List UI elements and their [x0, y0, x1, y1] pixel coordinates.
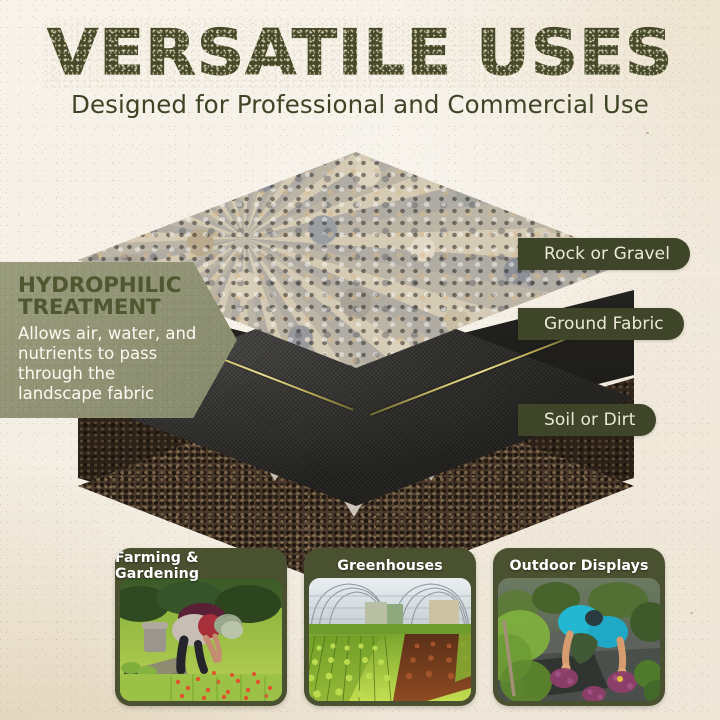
use-case-cards: Farming & Gardening — [0, 548, 720, 714]
card-farming-and-gardening[interactable]: Farming & Gardening — [115, 548, 287, 706]
card-label: Outdoor Displays — [493, 554, 665, 578]
card-label: Greenhouses — [304, 554, 476, 578]
infographic-canvas: VERSATILE USES Designed for Professional… — [0, 0, 720, 720]
card-outdoor-displays[interactable]: Outdoor Displays — [493, 548, 665, 706]
layer-label-text: Soil or Dirt — [544, 410, 636, 430]
callout-title: HYDROPHILIC TREATMENT — [18, 275, 203, 319]
gardener-planting-display-beds-photo — [498, 578, 660, 701]
greenhouse-lettuce-rows-photo — [309, 578, 471, 701]
layer-label-text: Rock or Gravel — [544, 244, 670, 264]
callout-body: Allows air, water, and nutrients to pass… — [18, 324, 203, 405]
card-label: Farming & Gardening — [115, 554, 287, 578]
hydrophilic-callout: HYDROPHILIC TREATMENT Allows air, water,… — [0, 262, 237, 418]
worker-tending-flower-nursery-photo — [120, 578, 282, 701]
layer-label-rock-or-gravel: Rock or Gravel — [518, 238, 690, 270]
card-greenhouses[interactable]: Greenhouses — [304, 548, 476, 706]
layer-label-soil-or-dirt: Soil or Dirt — [518, 404, 656, 436]
callout-content: HYDROPHILIC TREATMENT Allows air, water,… — [18, 275, 203, 404]
layer-label-text: Ground Fabric — [544, 314, 664, 334]
layer-label-ground-fabric: Ground Fabric — [518, 308, 684, 340]
